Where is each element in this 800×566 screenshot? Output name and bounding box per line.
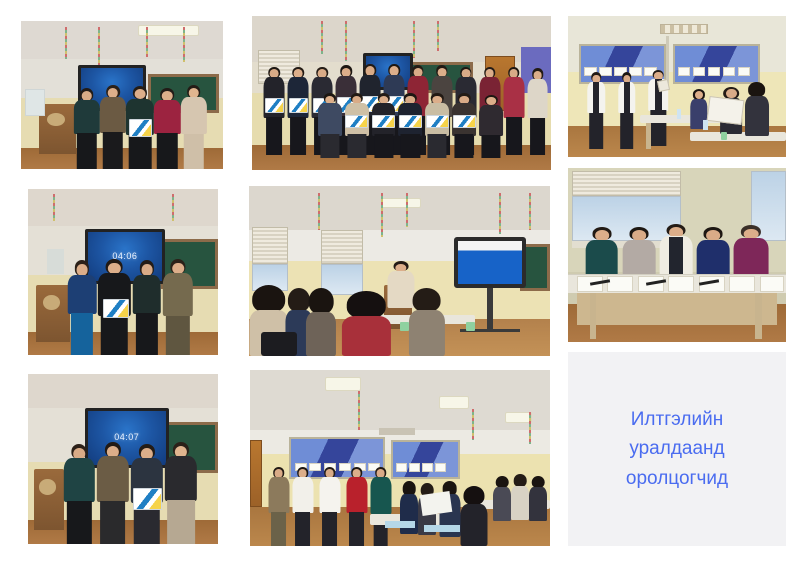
caption-text: Илтгэлийн уралдаанд оролцогчид: [626, 405, 728, 493]
person: [399, 93, 423, 158]
person: [165, 442, 197, 544]
person: [345, 93, 369, 158]
photo-presentation-podium: [249, 186, 550, 356]
person: [342, 291, 390, 356]
person: [745, 82, 769, 136]
person: [126, 86, 154, 169]
person: [346, 467, 367, 546]
person: [503, 67, 524, 155]
person: [306, 288, 336, 356]
person: [98, 259, 130, 355]
screen-clock: 04:07: [88, 432, 166, 442]
photo-classroom-wide-presenters: [250, 370, 550, 546]
person: [100, 85, 126, 169]
person: [493, 476, 511, 522]
person: [292, 467, 313, 546]
person: [588, 72, 605, 148]
person: [697, 227, 730, 279]
person: [74, 88, 100, 169]
person: [288, 67, 309, 155]
photo-award-group-four-a: 04:06: [28, 189, 218, 355]
person: [425, 93, 449, 158]
person: [163, 259, 193, 355]
person: [660, 224, 693, 280]
caption-panel: Илтгэлийн уралдаанд оролцогчид: [568, 352, 786, 546]
person: [133, 260, 162, 355]
person: [409, 288, 445, 356]
person: [460, 486, 487, 546]
person: [511, 474, 529, 520]
person: [181, 85, 207, 169]
photo-award-group-four-b: 04:07: [28, 374, 218, 544]
collage-page: 04:06: [0, 0, 800, 566]
person: [319, 467, 340, 546]
photo-award-group-five: [16, 16, 228, 174]
person: [264, 67, 285, 155]
person: [318, 93, 342, 158]
person: [370, 467, 391, 546]
photo-large-group-certificates: [252, 16, 551, 170]
person: [734, 225, 769, 279]
person: [452, 93, 476, 158]
person: [527, 68, 548, 154]
person: [372, 93, 396, 158]
person: [154, 88, 180, 169]
person: [64, 444, 94, 544]
person: [618, 72, 635, 148]
person: [529, 476, 547, 522]
person: [649, 70, 669, 146]
person: [96, 442, 128, 544]
photo-judges-panel: [568, 168, 786, 342]
person: [68, 260, 97, 355]
person: [585, 227, 618, 279]
person: [131, 444, 163, 544]
person: [268, 467, 289, 546]
photo-students-presenting: [568, 16, 786, 157]
person: [479, 95, 503, 158]
person: [623, 227, 656, 279]
